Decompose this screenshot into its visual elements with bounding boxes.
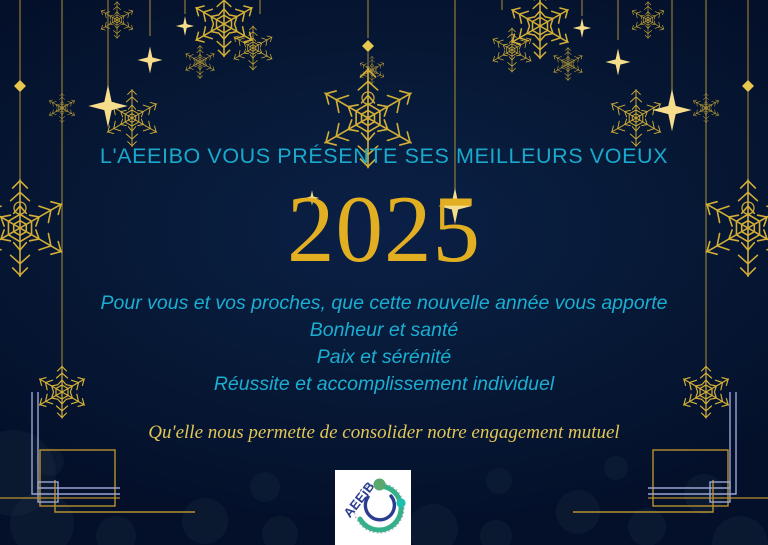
wish-line: Réussite et accomplissement individuel (0, 371, 768, 398)
logo-dot-right (396, 498, 405, 507)
pledge-text: Qu'elle nous permette de consolider notr… (0, 422, 768, 444)
page-title: L'AEEIBO VOUS PRÉSENTE SES MEILLEURS VOE… (0, 144, 768, 169)
year-heading: 2025 (0, 182, 768, 277)
wish-line: Pour vous et vos proches, que cette nouv… (0, 290, 768, 317)
wish-line: Paix et sérénité (0, 344, 768, 371)
greeting-card: L'AEEIBO VOUS PRÉSENTE SES MEILLEURS VOE… (0, 0, 768, 545)
wish-line: Bonheur et santé (0, 317, 768, 344)
card-content: L'AEEIBO VOUS PRÉSENTE SES MEILLEURS VOE… (0, 0, 768, 545)
wishes-block: Pour vous et vos proches, que cette nouv… (0, 290, 768, 398)
aeeib-logo: AEEiB (335, 470, 411, 545)
